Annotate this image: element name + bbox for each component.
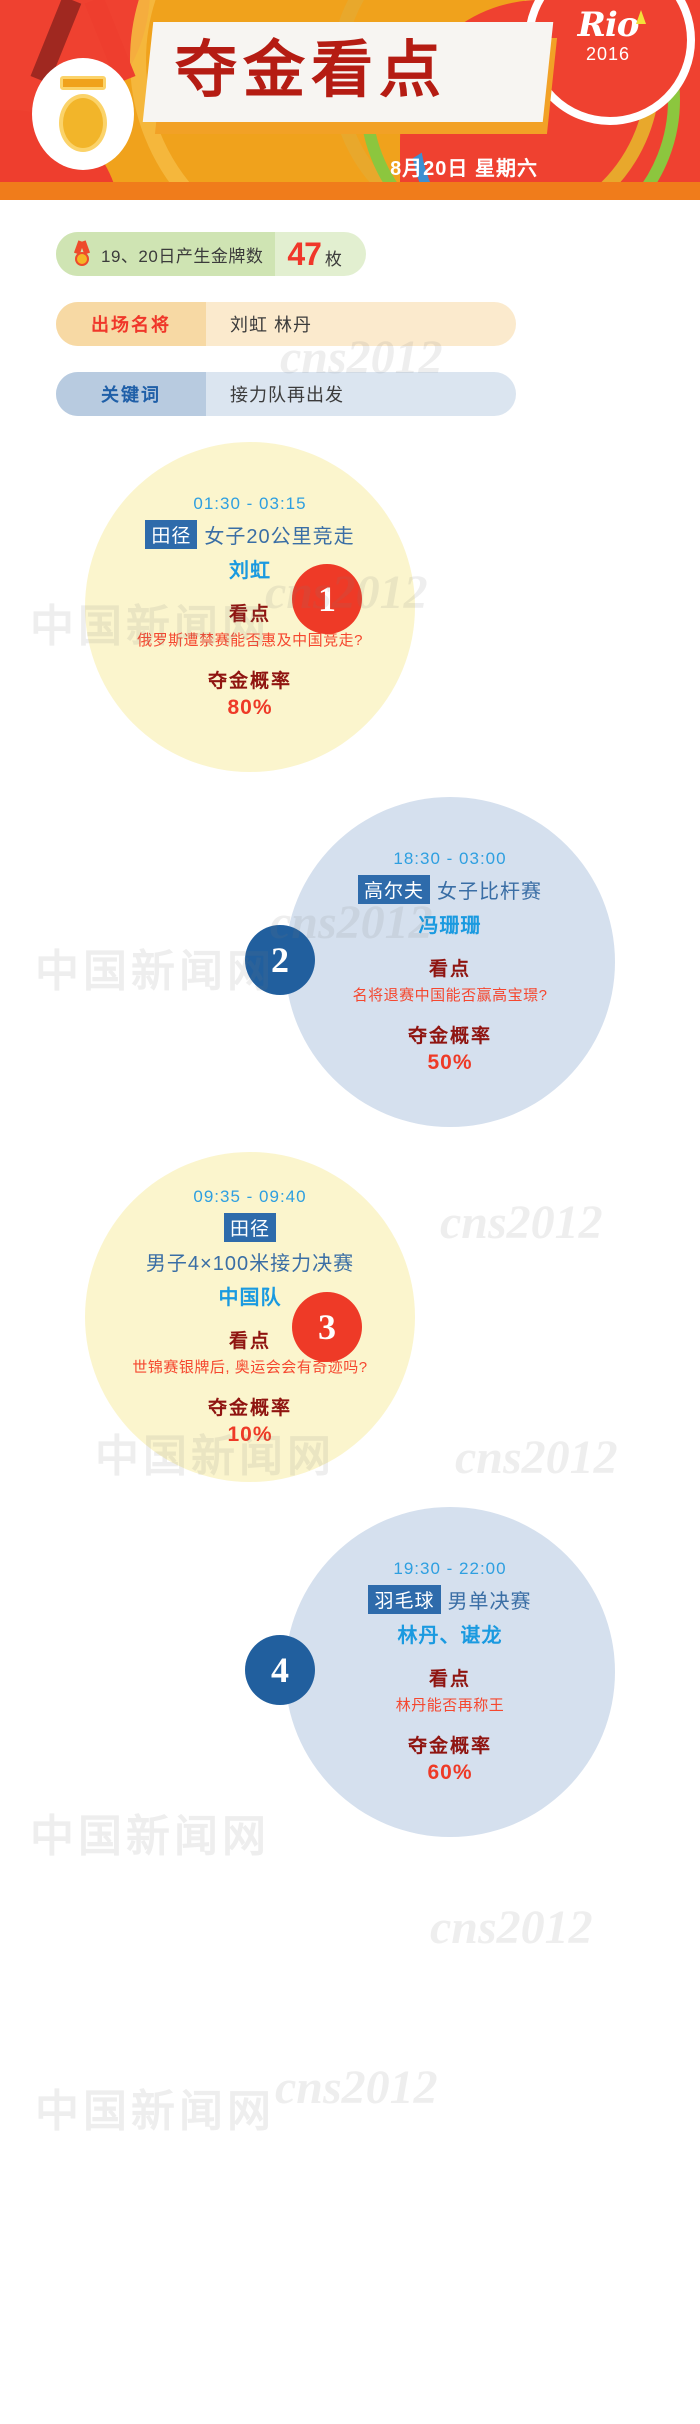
page-title: 夺金看点 [175,24,447,116]
rio-2016-logo: Rio 2016 [548,8,668,65]
medal-ring [60,76,106,90]
watermark-cn: 中国新闻网 [35,2075,275,2139]
event-title-line: 羽毛球 男单决赛 [368,1585,531,1614]
event-sport-line: 田径 [224,1213,276,1242]
event-number-badge: 1 [292,564,362,634]
event-time: 19:30 - 22:00 [393,1559,506,1579]
event-name: 男子4×100米接力决赛 [146,1247,354,1276]
event-circle: 01:30 - 03:15 田径 女子20公里竞走 刘虹 看点 俄罗斯遭禁赛能否… [85,442,415,772]
keyword-bar: 关键词 接力队再出发 [56,372,516,416]
medal-icon [72,241,92,267]
medal-count-bar: 19、20日产生金牌数 47 枚 [56,232,366,276]
event-number-badge: 4 [245,1635,315,1705]
watermark-en: cns2012 [430,1900,593,1955]
event-time: 01:30 - 03:15 [193,494,306,514]
sport-tag: 田径 [224,1213,276,1242]
highlight-text: 名将退赛中国能否赢高宝璟? [353,984,548,1005]
featured-athletes-value: 刘虹 林丹 [206,311,312,337]
event-item: 01:30 - 03:15 田径 女子20公里竞走 刘虹 看点 俄罗斯遭禁赛能否… [0,442,700,797]
medal-count-unit: 枚 [325,245,342,270]
highlight-title: 看点 [229,1326,271,1353]
featured-athletes-bar: 出场名将 刘虹 林丹 [56,302,516,346]
header-bottom-bar [0,182,700,200]
event-title-line: 田径 女子20公里竞走 [145,520,354,549]
probability-value: 10% [227,1423,272,1447]
event-title-line: 高尔夫 女子比杆赛 [358,875,542,904]
event-number-badge: 3 [292,1292,362,1362]
event-time: 18:30 - 03:00 [393,849,506,869]
rio-logo-year: 2016 [548,44,668,65]
sport-tag: 羽毛球 [368,1585,440,1614]
sport-tag: 田径 [145,520,197,549]
medal-count-left-segment: 19、20日产生金牌数 [56,232,275,276]
probability-value: 50% [427,1051,472,1075]
event-item: 09:35 - 09:40 田径 男子4×100米接力决赛 中国队 看点 世锦赛… [0,1152,700,1507]
event-name: 男单决赛 [448,1585,532,1614]
probability-title: 夺金概率 [208,1393,292,1420]
header-date: 8月20日 星期六 [390,152,538,181]
event-athlete: 林丹、谌龙 [398,1619,503,1648]
medal-count-right-segment: 47 枚 [275,236,358,273]
featured-athletes-key: 出场名将 [56,302,206,346]
event-circle: 19:30 - 22:00 羽毛球 男单决赛 林丹、谌龙 看点 林丹能否再称王 … [285,1507,615,1837]
probability-value: 80% [227,696,272,720]
highlight-text: 林丹能否再称王 [396,1694,505,1715]
event-item: 18:30 - 03:00 高尔夫 女子比杆赛 冯珊珊 看点 名将退赛中国能否赢… [0,797,700,1152]
medal-count-value: 47 [287,236,321,273]
event-athlete: 中国队 [219,1281,282,1310]
infographic-page: Rio 2016 夺金看点 8月20日 星期六 19、20日产生金牌数 [0,0,700,2424]
sport-tag: 高尔夫 [358,875,430,904]
watermark-en: cns2012 [275,2060,438,2115]
probability-value: 60% [427,1761,472,1785]
torch-flame-icon [636,10,646,24]
event-name: 女子20公里竞走 [204,520,354,549]
summary-bars: 19、20日产生金牌数 47 枚 出场名将 刘虹 林丹 关键词 接力队再出发 [0,200,700,416]
event-list: 01:30 - 03:15 田径 女子20公里竞走 刘虹 看点 俄罗斯遭禁赛能否… [0,442,700,1862]
medal-icon-coin [75,252,89,266]
event-number-badge: 2 [245,925,315,995]
event-athlete: 刘虹 [229,554,271,583]
rio-logo-word: Rio [548,8,668,42]
keyword-key: 关键词 [56,372,206,416]
probability-title: 夺金概率 [408,1021,492,1048]
probability-title: 夺金概率 [408,1731,492,1758]
medal-coin [59,94,107,152]
highlight-title: 看点 [229,599,271,626]
page-header: Rio 2016 夺金看点 8月20日 星期六 [0,0,700,200]
medal-count-label: 19、20日产生金牌数 [101,242,263,267]
keyword-value: 接力队再出发 [206,381,344,407]
highlight-title: 看点 [429,1664,471,1691]
event-item: 19:30 - 22:00 羽毛球 男单决赛 林丹、谌龙 看点 林丹能否再称王 … [0,1507,700,1862]
event-time: 09:35 - 09:40 [193,1187,306,1207]
probability-title: 夺金概率 [208,666,292,693]
event-name: 女子比杆赛 [437,875,542,904]
event-circle: 09:35 - 09:40 田径 男子4×100米接力决赛 中国队 看点 世锦赛… [85,1152,415,1482]
gold-medal-icon [22,14,142,179]
event-athlete: 冯珊珊 [419,909,482,938]
event-circle: 18:30 - 03:00 高尔夫 女子比杆赛 冯珊珊 看点 名将退赛中国能否赢… [285,797,615,1127]
highlight-title: 看点 [429,954,471,981]
